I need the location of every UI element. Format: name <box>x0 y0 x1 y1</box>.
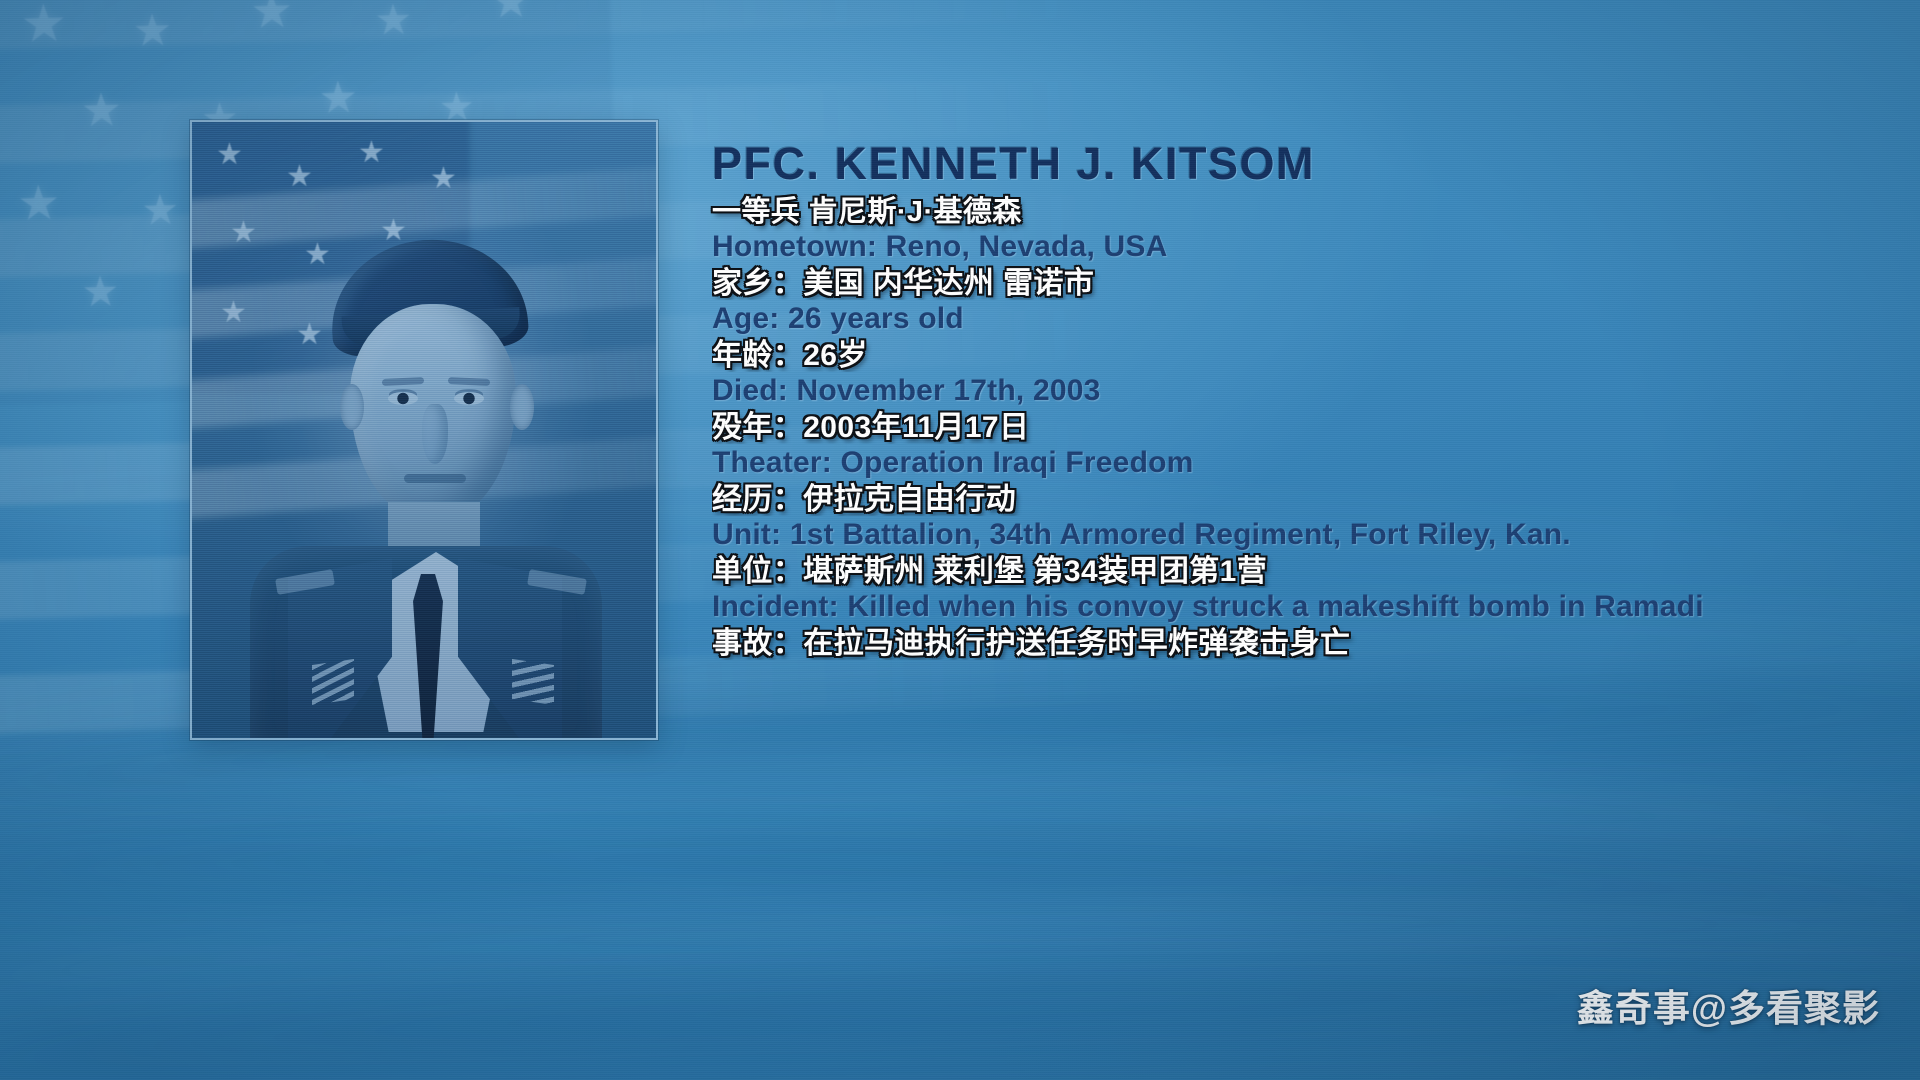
field-theater-zh: 经历：伊拉克自由行动 <box>712 483 1920 517</box>
channel-watermark: 鑫奇事@多看聚影 <box>1577 978 1880 1032</box>
rank-chevron <box>512 659 554 705</box>
field-incident-zh: 事故：在拉马迪执行护送任务时早炸弹袭击身亡 <box>712 627 1920 661</box>
field-unit-zh: 单位：堪萨斯州 莱利堡 第34装甲团第1营 <box>712 555 1920 589</box>
page-title: PFC. KENNETH J. KITSOM <box>712 138 1920 190</box>
rank-chevron <box>312 659 354 705</box>
field-incident-en: Incident: Killed when his convoy struck … <box>712 591 1920 623</box>
portrait-frame: ★ ★ ★ ★ ★ ★ ★ ★ ★ <box>190 120 658 740</box>
field-hometown-zh: 家乡：美国 内华达州 雷诺市 <box>712 267 1920 301</box>
memorial-slide: ★ ★ ★ ★ ★ ★ ★ ★ ★ ★ ★ ★ ★ ★ ★ ★ ★ ★ ★ ★ <box>0 0 1920 1080</box>
field-theater-en: Theater: Operation Iraqi Freedom <box>712 447 1920 479</box>
soldier-portrait: ★ ★ ★ ★ ★ ★ ★ ★ ★ <box>192 122 656 738</box>
field-age-en: Age: 26 years old <box>712 303 1920 335</box>
memorial-info: PFC. KENNETH J. KITSOM 一等兵 肯尼斯·J·基德森 Hom… <box>712 138 1920 660</box>
field-age-zh: 年龄：26岁 <box>712 339 1920 373</box>
page-title-chinese: 一等兵 肯尼斯·J·基德森 <box>712 196 1920 228</box>
field-died-zh: 殁年：2003年11月17日 <box>712 411 1920 445</box>
field-died-en: Died: November 17th, 2003 <box>712 375 1920 407</box>
field-hometown-en: Hometown: Reno, Nevada, USA <box>712 231 1920 263</box>
field-unit-en: Unit: 1st Battalion, 34th Armored Regime… <box>712 519 1920 551</box>
